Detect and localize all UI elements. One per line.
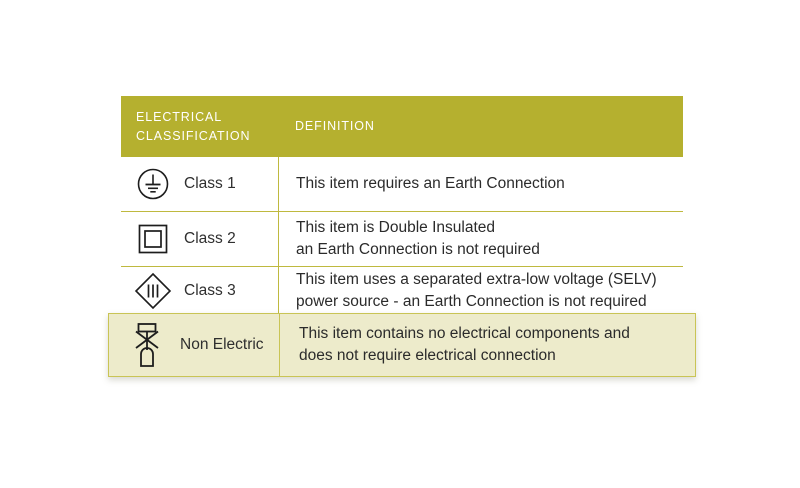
table-header-row: ELECTRICAL CLASSIFICATION DEFINITION: [121, 96, 683, 157]
classification-cell: Class 2: [121, 212, 279, 266]
column-header-classification-label: ELECTRICAL CLASSIFICATION: [136, 108, 250, 144]
classification-cell: Non Electric: [109, 314, 280, 376]
definition-text: This item uses a separated extra-low vol…: [296, 269, 657, 313]
definition-cell: This item is Double Insulated an Earth C…: [279, 212, 683, 266]
definition-text: This item contains no electrical compone…: [299, 323, 630, 367]
earth-ground-icon: [133, 164, 173, 204]
classification-label: Class 1: [184, 175, 236, 193]
column-header-classification: ELECTRICAL CLASSIFICATION: [121, 96, 279, 157]
non-electric-icon: [127, 325, 167, 365]
column-header-definition: DEFINITION: [279, 96, 683, 157]
diamond-selv-icon: [133, 271, 173, 311]
screenshot-canvas: ELECTRICAL CLASSIFICATION DEFINITION: [0, 0, 800, 488]
classification-label: Non Electric: [180, 336, 264, 354]
table-row[interactable]: Class 1 This item requires an Earth Conn…: [121, 157, 683, 212]
definition-cell: This item contains no electrical compone…: [280, 314, 695, 376]
definition-cell: This item uses a separated extra-low vol…: [279, 267, 683, 315]
classification-label: Class 2: [184, 230, 236, 248]
double-square-insulated-icon: [133, 219, 173, 259]
definition-text: This item requires an Earth Connection: [296, 173, 565, 195]
table-row[interactable]: Class 3 This item uses a separated extra…: [121, 267, 683, 316]
definition-cell: This item requires an Earth Connection: [279, 157, 683, 211]
table-row-highlighted[interactable]: Non Electric This item contains no elect…: [108, 313, 696, 377]
definition-text: This item is Double Insulated an Earth C…: [296, 217, 540, 261]
column-header-definition-label: DEFINITION: [295, 117, 375, 135]
electrical-classification-table: ELECTRICAL CLASSIFICATION DEFINITION: [121, 96, 683, 316]
classification-label: Class 3: [184, 282, 236, 300]
classification-cell: Class 3: [121, 267, 279, 315]
classification-cell: Class 1: [121, 157, 279, 211]
table-row[interactable]: Class 2 This item is Double Insulated an…: [121, 212, 683, 267]
